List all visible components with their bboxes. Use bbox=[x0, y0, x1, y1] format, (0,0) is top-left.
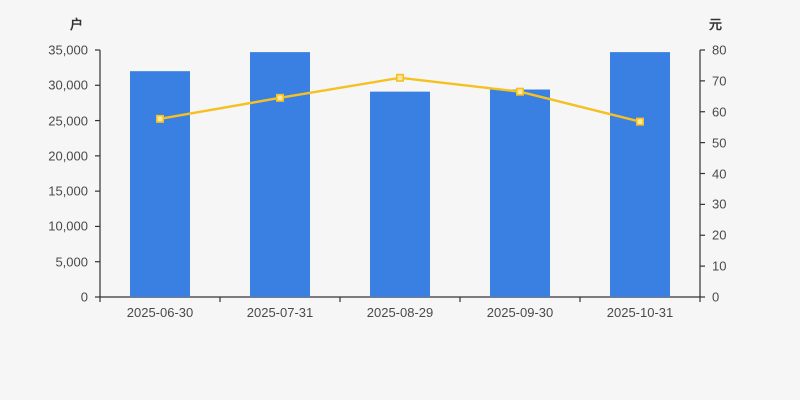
right-axis-tick-label: 70 bbox=[712, 74, 726, 87]
right-axis-tick-label: 80 bbox=[712, 44, 726, 57]
left-axis-tick-label: 25,000 bbox=[0, 114, 88, 127]
left-axis-tick-label: 10,000 bbox=[0, 220, 88, 233]
line-marker[interactable] bbox=[637, 118, 643, 124]
line-marker[interactable] bbox=[517, 88, 523, 94]
left-axis-tick-label: 0 bbox=[0, 291, 88, 304]
left-axis-tick-label: 30,000 bbox=[0, 79, 88, 92]
right-axis-tick-label: 10 bbox=[712, 260, 726, 273]
chart-container: 户 元 05,00010,00015,00020,00025,00030,000… bbox=[0, 0, 800, 400]
right-axis-tick-label: 40 bbox=[712, 167, 726, 180]
right-axis-tick-label: 20 bbox=[712, 229, 726, 242]
x-axis-tick-label: 2025-07-31 bbox=[247, 305, 314, 320]
x-axis-tick-label: 2025-10-31 bbox=[607, 305, 674, 320]
line-marker[interactable] bbox=[157, 116, 163, 122]
line-marker[interactable] bbox=[397, 75, 403, 81]
bar[interactable] bbox=[610, 52, 670, 297]
bar[interactable] bbox=[130, 71, 190, 297]
x-axis-tick-label: 2025-06-30 bbox=[127, 305, 194, 320]
bar[interactable] bbox=[250, 52, 310, 297]
bar[interactable] bbox=[370, 92, 430, 297]
left-axis-tick-label: 5,000 bbox=[0, 255, 88, 268]
right-axis-tick-label: 0 bbox=[712, 291, 719, 304]
left-axis-tick-label: 35,000 bbox=[0, 44, 88, 57]
left-axis-tick-label: 20,000 bbox=[0, 149, 88, 162]
right-axis-tick-label: 60 bbox=[712, 105, 726, 118]
line-marker[interactable] bbox=[277, 95, 283, 101]
plot-area bbox=[0, 0, 800, 400]
x-axis-tick-label: 2025-09-30 bbox=[487, 305, 554, 320]
left-axis-tick-label: 15,000 bbox=[0, 185, 88, 198]
x-axis-tick-label: 2025-08-29 bbox=[367, 305, 434, 320]
right-axis-tick-label: 50 bbox=[712, 136, 726, 149]
right-axis-tick-label: 30 bbox=[712, 198, 726, 211]
bar[interactable] bbox=[490, 90, 550, 297]
